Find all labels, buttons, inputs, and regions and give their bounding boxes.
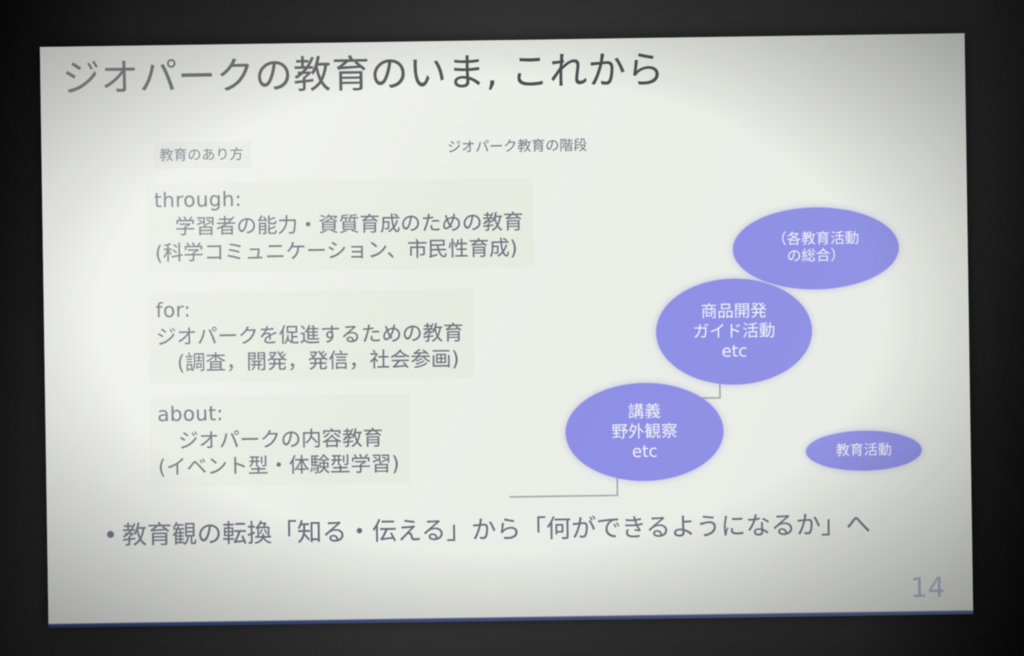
page-title: ジオパークの教育のいま, これから <box>62 50 665 101</box>
text-block-about-line2: (イベント型・体験型学習) <box>158 452 400 480</box>
projected-slide-photo: ジオパークの教育のいま, これから 教育のあり方 ジオパーク教育の階段 thro… <box>0 0 1024 656</box>
page-number: 14 <box>910 573 945 605</box>
section-label-geopark-education-stairs: ジオパーク教育の階段 <box>447 135 587 157</box>
text-block-through-heading: through: <box>154 187 242 212</box>
slide-canvas: ジオパークの教育のいま, これから 教育のあり方 ジオパーク教育の階段 thro… <box>40 33 973 625</box>
ellipse-product-development-line2: ガイド活動 <box>693 321 776 342</box>
ellipse-product-development-line1: 商品開発 <box>701 301 767 322</box>
text-block-through-line1: 学習者の能力・資質育成のための教育 <box>154 209 523 238</box>
ellipse-lecture-fieldwork-line3: etc <box>632 442 658 462</box>
text-block-for-line2: (調査，開発，発信，社会参画) <box>156 347 459 375</box>
text-block-for: for: ジオパークを促進するための教育 (調査，開発，発信，社会参画) <box>147 288 474 383</box>
ellipse-educational-activity: 教育活動 <box>806 430 923 472</box>
text-block-about-line1: ジオパークの内容教育 <box>157 425 383 452</box>
ellipse-integrated-activities: （各教育活動 の総合） <box>732 206 899 290</box>
ellipse-product-development: 商品開発 ガイド活動 etc <box>655 277 813 385</box>
bottom-bullet-text: 教育観の転換「知る・伝える」から「何ができるようになるか」へ <box>122 505 871 552</box>
ellipse-lecture-fieldwork-line1: 講義 <box>628 402 661 422</box>
ellipse-lecture-fieldwork-line2: 野外観察 <box>611 422 677 443</box>
ellipse-educational-activity-line1: 教育活動 <box>836 442 892 460</box>
slide-area: ジオパークの教育のいま, これから 教育のあり方 ジオパーク教育の階段 thro… <box>40 33 973 625</box>
section-label-education-approach: 教育のあり方 <box>153 141 251 169</box>
bullet-dot-icon <box>107 530 114 537</box>
text-block-about-heading: about: <box>157 401 224 426</box>
text-block-about: about: ジオパークの内容教育 (イベント型・体験型学習) <box>149 393 410 487</box>
ellipse-integrated-activities-line1: （各教育活動 <box>772 230 859 249</box>
text-block-for-line1: ジオパークを促進するための教育 <box>156 320 464 349</box>
text-block-for-heading: for: <box>156 298 191 323</box>
ellipse-integrated-activities-line2: の総合） <box>787 248 845 266</box>
ellipse-product-development-line3: etc <box>721 341 747 361</box>
bottom-bullet-line: 教育観の転換「知る・伝える」から「何ができるようになるか」へ <box>107 505 871 552</box>
